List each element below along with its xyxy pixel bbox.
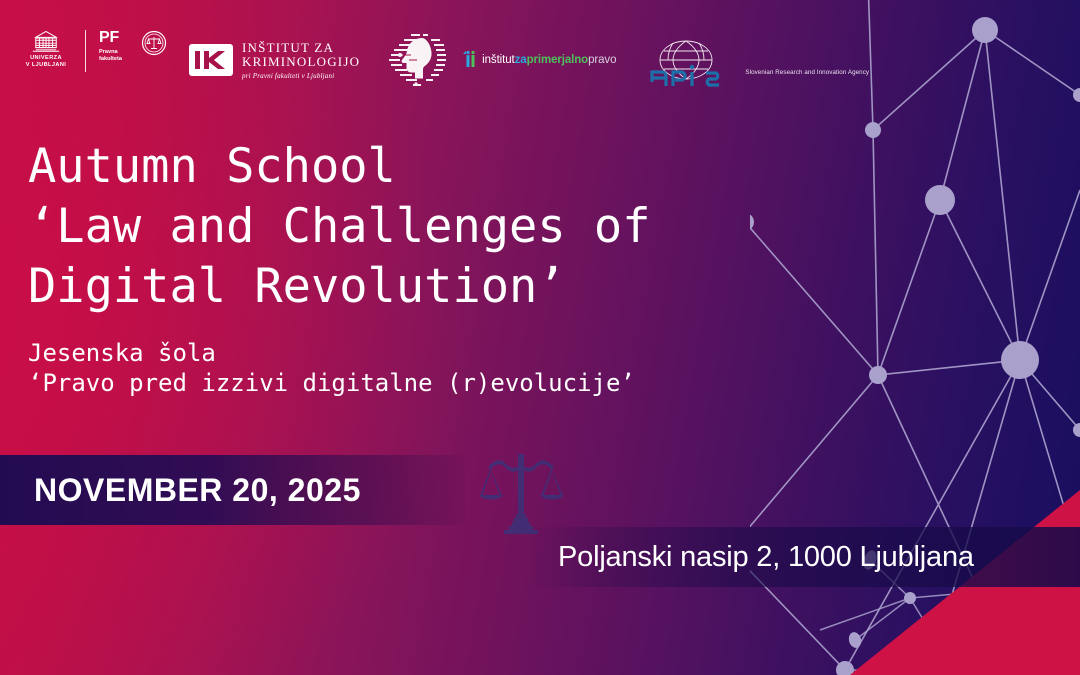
title-line-3: Digital Revolutionʼ — [28, 257, 651, 317]
poster-canvas: UNIVERZA V LJUBLJANI PF Pravna fakulteta — [0, 0, 1080, 675]
pf-abbrev: PF — [99, 30, 122, 45]
law-faculty-seal-icon — [141, 30, 167, 56]
title-line-1: Autumn School — [28, 137, 651, 197]
event-date: NOVEMBER 20, 2025 — [0, 472, 361, 509]
ipp-part4: pravo — [588, 54, 616, 66]
ul-caption: UNIVERZA V LJUBLJANI — [26, 55, 66, 69]
ai-head-circuit-icon — [386, 32, 448, 88]
ipp-part2: za — [515, 54, 527, 66]
ij-monogram-icon — [462, 50, 477, 70]
logo-institut-za-primerjalno-pravo: inštitutzaprimerjalnopravo — [462, 30, 616, 90]
partner-logos-row: UNIVERZA V LJUBLJANI PF Pravna fakulteta — [14, 30, 869, 90]
subtitle-line-2: ʻPravo pred izzivi digitalne (r)evolucij… — [28, 368, 635, 398]
date-band: NOVEMBER 20, 2025 — [0, 455, 465, 525]
aris-subtitle: Slovenian Research and Innovation Agency — [745, 69, 869, 90]
event-subtitle: Jesenska šola ʻPravo pred izzivi digital… — [28, 338, 635, 398]
logo-institut-za-kriminologijo: INŠTITUT ZA KRIMINOLOGIJO pri Pravni fak… — [189, 30, 360, 90]
logo-divider — [85, 30, 86, 72]
address-band: Poljanski nasip 2, 1000 Ljubljana — [524, 527, 1080, 587]
scales-of-justice-icon — [478, 448, 564, 536]
subtitle-line-1: Jesenska šola — [28, 338, 635, 368]
ik-line3: pri Pravni fakulteti v Ljubljani — [242, 72, 360, 80]
event-title: Autumn School ʻLaw and Challenges of Dig… — [28, 137, 651, 317]
ipp-wordmark: inštitutzaprimerjalnopravo — [482, 54, 616, 66]
ik-line1: INŠTITUT ZA — [242, 41, 360, 56]
pf-faculty-caption: Pravna fakulteta — [99, 49, 122, 64]
university-building-icon — [31, 30, 61, 52]
aris-globe-wordmark-icon — [642, 38, 738, 90]
logo-univerza-v-ljubljani: UNIVERZA V LJUBLJANI PF Pravna fakulteta — [14, 30, 167, 90]
ipp-part1: inštitut — [482, 54, 514, 66]
title-line-2: ʻLaw and Challenges of — [28, 197, 651, 257]
logo-aris: Slovenian Research and Innovation Agency — [642, 30, 869, 90]
ipp-part3: primerjalno — [527, 54, 589, 66]
ik-monogram-icon — [189, 44, 233, 76]
event-address: Poljanski nasip 2, 1000 Ljubljana — [524, 541, 974, 574]
ik-line2: KRIMINOLOGIJO — [242, 55, 360, 70]
